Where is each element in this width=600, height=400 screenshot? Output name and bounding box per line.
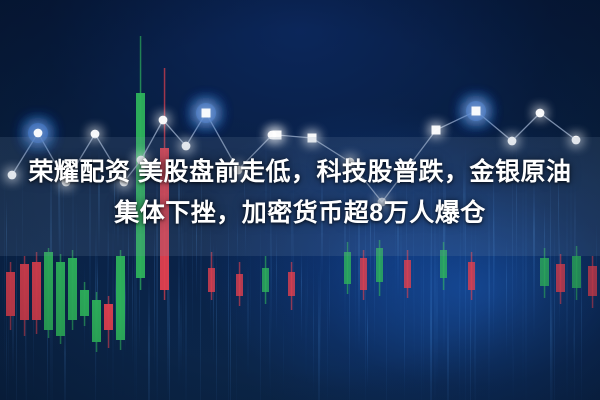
network-node	[536, 109, 545, 118]
network-node	[472, 107, 481, 116]
headline-text: 荣耀配资 美股盘前走低，科技股普跌，金银原油 集体下挫，加密货币超8万人爆仓	[0, 152, 600, 234]
network-node	[202, 109, 211, 118]
news-banner-image: 荣耀配资 美股盘前走低，科技股普跌，金银原油 集体下挫，加密货币超8万人爆仓	[0, 0, 600, 400]
headline-line-1: 荣耀配资 美股盘前走低，科技股普跌，金银原油	[0, 152, 600, 193]
network-node	[432, 126, 441, 135]
network-node	[159, 116, 168, 125]
headline-line-2: 集体下挫，加密货币超8万人爆仓	[0, 193, 600, 234]
